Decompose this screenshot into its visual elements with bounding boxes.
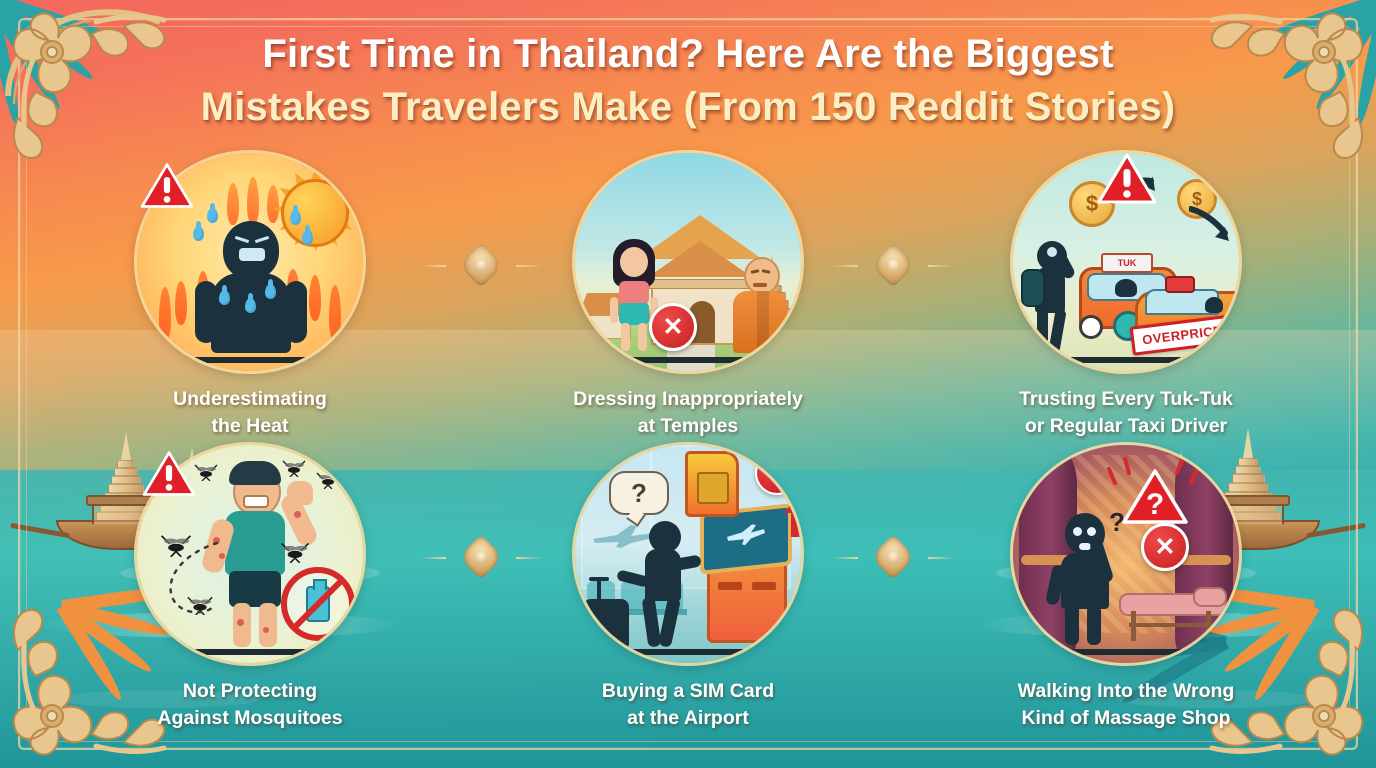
panel-caption: Underestimating the Heat [173,386,327,440]
panel-row-2: Not Protecting Against Mosquitoes [60,442,1316,732]
warning-triangle-icon [142,450,196,498]
caption-line-2: Kind of Massage Shop [1018,705,1235,732]
panel-walking-into-the-wrong-massage-shop[interactable]: ? ? ✕ [936,442,1316,732]
mosquito-icon [281,459,307,477]
panel-underestimating-the-heat[interactable]: Underestimating the Heat [60,150,440,440]
speech-bubble-icon: ? [609,471,669,515]
massage-table-icon [1119,593,1223,641]
title-line-2: Mistakes Travelers Make (From 150 Reddit… [0,81,1376,134]
caption-line-1: Walking Into the Wrong [1018,678,1235,705]
caption-line-2: the Heat [173,413,327,440]
warning-triangle-icon [1096,152,1158,206]
backpacker-icon [1021,241,1079,353]
dollar-badge-icon: $ [755,451,799,495]
mosquito-icon [315,471,341,489]
panel-1-illustration [134,150,366,374]
caption-line-2: at the Airport [602,705,774,732]
panel-not-protecting-against-mosquitoes[interactable]: Not Protecting Against Mosquitoes [60,442,440,732]
sim-card-icon [685,451,739,517]
kiosk-icon [707,519,787,643]
panel-caption: Buying a SIM Card at the Airport [602,678,774,732]
red-x-badge-icon: ✕ [1141,523,1189,571]
caption-line-1: Buying a SIM Card [602,678,774,705]
panel-3-illustration: TUK [1010,150,1242,374]
illustration-disc: $ [572,442,804,666]
panel-grid: Underestimating the Heat [60,150,1316,750]
caption-line-2: at Temples [573,413,803,440]
panel-trusting-every-tuk-tuk[interactable]: TUK [936,150,1316,440]
panel-caption: Walking Into the Wrong Kind of Massage S… [1018,678,1235,732]
mosquito-icon [193,463,219,481]
panel-buying-a-sim-card-at-the-airport[interactable]: $ [498,442,878,732]
poster-title: First Time in Thailand? Here Are the Big… [0,28,1376,134]
caption-line-1: Trusting Every Tuk-Tuk [1019,386,1233,413]
panel-caption: Not Protecting Against Mosquitoes [157,678,342,732]
caption-line-1: Dressing Inappropriately [573,386,803,413]
caption-line-2: Against Mosquitoes [157,705,342,732]
panel-5-illustration: $ [572,442,804,666]
confused-person-icon [1053,513,1115,645]
mosquito-icon [279,541,311,563]
illustration-disc: ? ? ✕ [1010,442,1242,666]
panel-dressing-inappropriately-at-temples[interactable]: ✕ Dressing Inappropriately at Temples [498,150,878,440]
panel-caption: Trusting Every Tuk-Tuk or Regular Taxi D… [1019,386,1233,440]
no-repellent-icon [281,567,355,641]
panel-caption: Dressing Inappropriately at Temples [573,386,803,440]
caption-line-1: Not Protecting [157,678,342,705]
question-mark: ? [631,478,647,509]
warning-triangle-icon [140,162,194,210]
panel-4-illustration [134,442,366,666]
panel-2-illustration: ✕ [572,150,804,374]
illustration-disc: ✕ [572,150,804,374]
caption-line-1: Underestimating [173,386,327,413]
traveler-with-suitcase-icon [631,521,695,647]
caption-line-2: or Regular Taxi Driver [1019,413,1233,440]
title-line-1: First Time in Thailand? Here Are the Big… [0,28,1376,81]
panel-row-1: Underestimating the Heat [60,150,1316,440]
arrow-icon [1189,205,1233,243]
svg-text:?: ? [1146,488,1164,521]
suitcase-icon [583,599,629,651]
panel-6-illustration: ? ? ✕ [1010,442,1242,666]
infographic-poster: First Time in Thailand? Here Are the Big… [0,0,1376,768]
red-x-badge-icon: ✕ [649,303,697,351]
